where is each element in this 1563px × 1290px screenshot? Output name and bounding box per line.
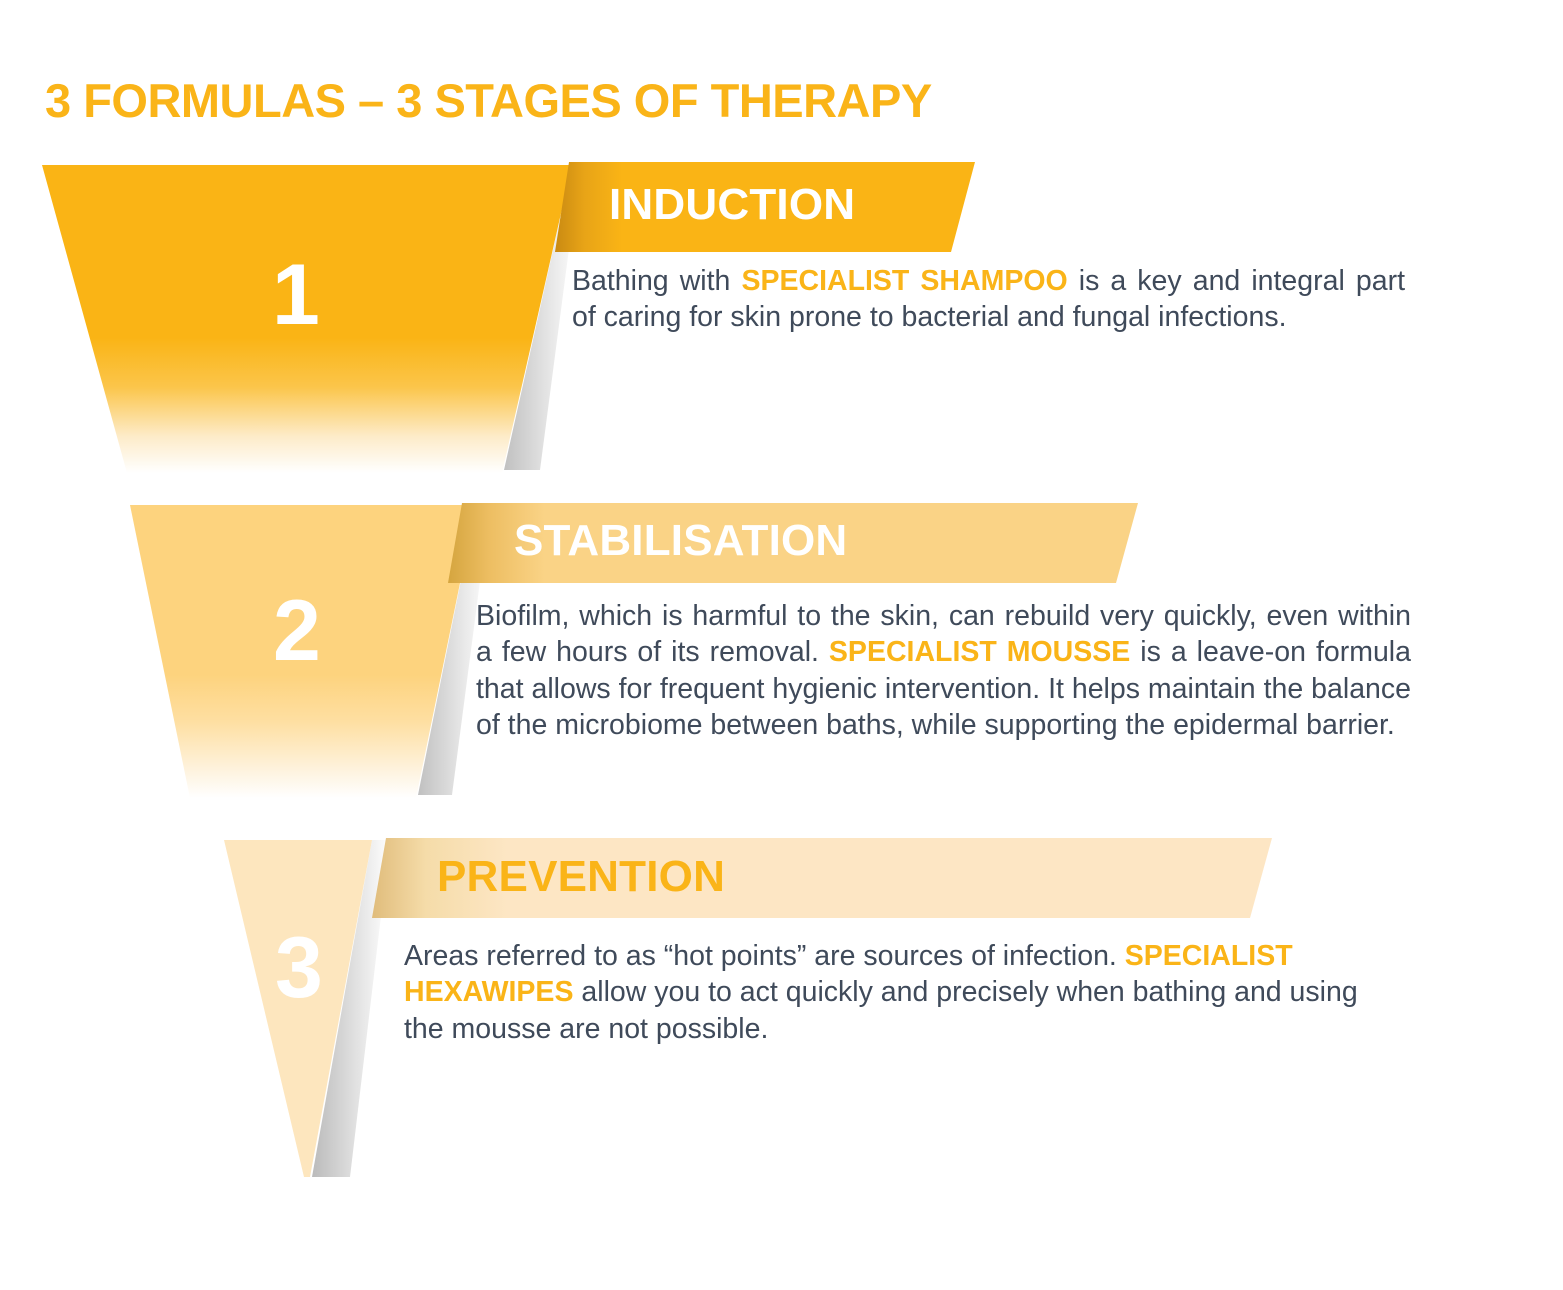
infographic-page: 3 FORMULAS – 3 STAGES OF THERAPY (0, 0, 1563, 1290)
stage-3-text-part-1: Areas referred to as “hot points” are so… (404, 940, 1125, 972)
stage-1-number: 1 (272, 252, 320, 338)
stage-3-number: 3 (275, 925, 323, 1011)
page-title: 3 FORMULAS – 3 STAGES OF THERAPY (45, 73, 932, 128)
stage-1-product-highlight: SPECIALIST SHAMPOO (741, 265, 1067, 297)
stage-1-text-part-1: Bathing with (572, 265, 741, 297)
stage-2-number: 2 (273, 588, 321, 674)
stage-2-body: Biofilm, which is harmful to the skin, c… (476, 598, 1411, 744)
stage-3-heading: PREVENTION (437, 855, 725, 899)
stage-1-body: Bathing with SPECIALIST SHAMPOO is a key… (572, 263, 1405, 336)
stage-1-heading: INDUCTION (609, 183, 855, 227)
stage-3-body: Areas referred to as “hot points” are so… (404, 938, 1404, 1047)
stage-2-heading: STABILISATION (514, 519, 847, 563)
stage-2-product-highlight: SPECIALIST MOUSSE (829, 636, 1130, 668)
